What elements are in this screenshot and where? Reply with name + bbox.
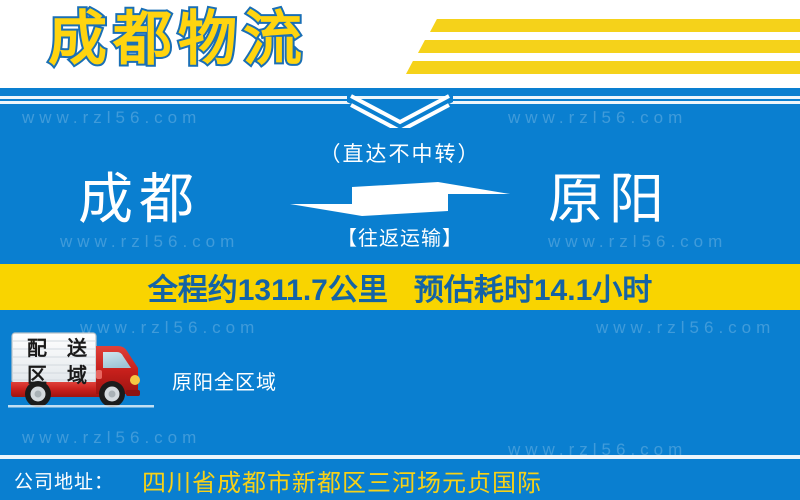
- divider-rule-left: [0, 101, 352, 104]
- roundtrip-note: 【往返运输】: [288, 222, 512, 251]
- watermark: www.rzl56.com: [22, 108, 201, 128]
- route-info-bar: 全程约1311.7公里 预估耗时14.1小时: [0, 264, 800, 310]
- origin-city-label: 成都: [78, 168, 200, 230]
- watermark: www.rzl56.com: [22, 428, 201, 448]
- duration-text: 预估耗时14.1小时: [414, 265, 652, 309]
- decor-stripe-3: [406, 61, 800, 74]
- page-title: 成都物流: [48, 3, 308, 75]
- double-headed-arrow-icon: [288, 180, 512, 222]
- truck-box-char-4: 域: [67, 366, 87, 386]
- watermark: www.rzl56.com: [60, 232, 239, 252]
- chevron-down-icon: [345, 92, 455, 128]
- decor-stripe-1: [430, 19, 800, 32]
- watermark: www.rzl56.com: [508, 108, 687, 128]
- header-bar: 成都物流: [0, 0, 800, 88]
- truck-box-char-3: 区: [27, 366, 47, 386]
- watermark: www.rzl56.com: [548, 232, 727, 252]
- company-address-value: 四川省成都市新都区三河场元贞国际: [142, 463, 542, 498]
- destination-city-label: 原阳: [548, 168, 670, 230]
- coverage-area-label: 原阳全区域: [172, 366, 277, 395]
- direct-shipping-note: （直达不中转）: [0, 138, 800, 168]
- company-address-label: 公司地址：: [14, 467, 114, 494]
- watermark: www.rzl56.com: [596, 318, 775, 338]
- logistics-banner: 成都物流 （直达不中转） 成都 原阳 【往返运输】 全程约1311.7公里: [0, 0, 800, 500]
- divider-rule-right: [448, 101, 800, 104]
- truck-box-char-2: 送: [67, 339, 87, 359]
- decor-stripe-2: [418, 40, 800, 53]
- distance-text: 全程约1311.7公里: [148, 265, 388, 309]
- truck-box-char-1: 配: [27, 339, 47, 359]
